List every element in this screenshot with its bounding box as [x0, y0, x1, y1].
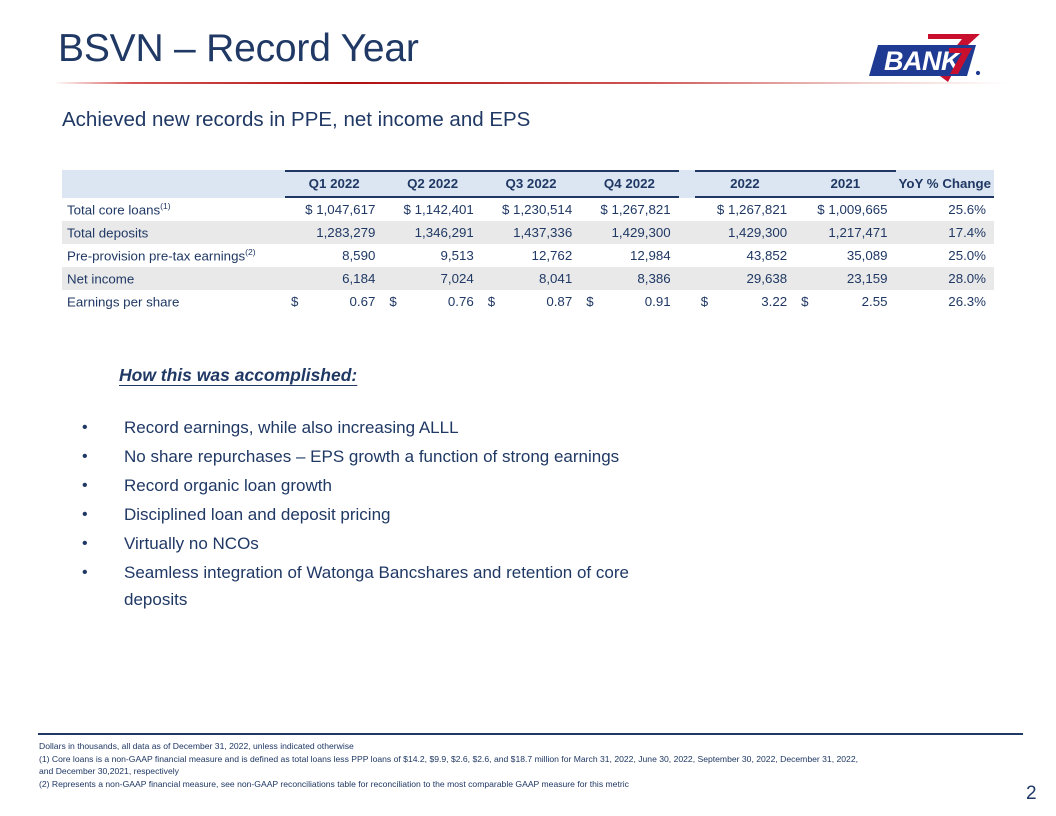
cell-yoy: 17.4%: [896, 221, 994, 244]
cell-spacer: [679, 244, 695, 267]
financial-table: Q1 2022 Q2 2022 Q3 2022 Q4 2022 2022 202…: [62, 170, 994, 313]
list-item: • No share repurchases – EPS growth a fu…: [78, 443, 778, 470]
cell-fy2022: $ 1,267,821: [695, 198, 795, 221]
cell-q4: $ 1,267,821: [580, 198, 678, 221]
footnotes-block: Dollars in thousands, all data as of Dec…: [39, 740, 999, 790]
footnote-marker: (1): [160, 201, 171, 211]
table-row: Total deposits 1,283,279 1,346,291 1,437…: [62, 221, 994, 244]
list-item-label: Virtually no NCOs: [124, 530, 259, 557]
bullet-dot-icon: •: [78, 472, 124, 499]
list-item-label: Seamless integration of Watonga Bancshar…: [124, 559, 684, 613]
eps-cell-inner: $ 0.87: [482, 294, 572, 309]
row-label-earnings-per-share: Earnings per share: [62, 290, 285, 313]
cell-q3: $ 0.87: [482, 290, 580, 313]
cell-q3: 12,762: [482, 244, 580, 267]
cell-yoy: 26.3%: [896, 290, 994, 313]
table-header-row: Q1 2022 Q2 2022 Q3 2022 Q4 2022 2022 202…: [62, 170, 994, 198]
table-row: Earnings per share $ 0.67 $ 0.76 $: [62, 290, 994, 313]
cell-q4: 8,386: [580, 267, 678, 290]
bullet-dot-icon: •: [78, 559, 124, 586]
cell-q2: 9,513: [383, 244, 481, 267]
page-title: BSVN – Record Year: [58, 27, 419, 71]
cell-q3: $ 1,230,514: [482, 198, 580, 221]
financial-table-container: Q1 2022 Q2 2022 Q3 2022 Q4 2022 2022 202…: [62, 170, 994, 313]
eps-value: 3.22: [761, 294, 787, 309]
list-item: • Record earnings, while also increasing…: [78, 414, 778, 441]
header-cell-q4: Q4 2022: [580, 170, 678, 198]
eps-cell-inner: $ 0.76: [383, 294, 473, 309]
cell-q1: 6,184: [285, 267, 383, 290]
cell-spacer: [679, 221, 695, 244]
eps-value: 0.67: [349, 294, 375, 309]
cell-yoy: 25.0%: [896, 244, 994, 267]
cell-fy2021: 1,217,471: [795, 221, 895, 244]
header-cell-q1: Q1 2022: [285, 170, 383, 198]
row-label-text: Total core loans: [67, 203, 160, 218]
cell-q1: $ 0.67: [285, 290, 383, 313]
cell-fy2021: 35,089: [795, 244, 895, 267]
cell-q1: $ 1,047,617: [285, 198, 383, 221]
cell-spacer: [679, 267, 695, 290]
row-label-text: Earnings per share: [67, 295, 179, 310]
cell-q2: $ 1,142,401: [383, 198, 481, 221]
bullet-dot-icon: •: [78, 414, 124, 441]
row-label-total-deposits: Total deposits: [62, 221, 285, 244]
header-cell-q3: Q3 2022: [482, 170, 580, 198]
slide-subtitle: Achieved new records in PPE, net income …: [62, 108, 530, 132]
financial-table-body: Total core loans(1) $ 1,047,617 $ 1,142,…: [62, 198, 994, 313]
header-cell-blank: [62, 170, 285, 198]
list-item-label: Disciplined loan and deposit pricing: [124, 501, 391, 528]
accomplishments-list: • Record earnings, while also increasing…: [78, 414, 778, 615]
how-accomplished-heading: How this was accomplished:: [119, 365, 357, 386]
footnote-line-1: Dollars in thousands, all data as of Dec…: [39, 740, 999, 753]
cell-q4: 12,984: [580, 244, 678, 267]
table-row: Net income 6,184 7,024 8,041 8,386 29,63…: [62, 267, 994, 290]
cell-spacer: [679, 290, 695, 313]
cell-q2: 7,024: [383, 267, 481, 290]
cell-fy2021: 23,159: [795, 267, 895, 290]
cell-fy2021: $ 2.55: [795, 290, 895, 313]
row-label-total-core-loans: Total core loans(1): [62, 198, 285, 221]
eps-value: 0.76: [448, 294, 474, 309]
cell-q1: 8,590: [285, 244, 383, 267]
footnote-line-2: (1) Core loans is a non-GAAP financial m…: [39, 753, 999, 766]
footer-divider-rule: [38, 733, 1023, 735]
table-row: Total core loans(1) $ 1,047,617 $ 1,142,…: [62, 198, 994, 221]
currency-symbol: $: [586, 294, 593, 309]
cell-fy2022: $ 3.22: [695, 290, 795, 313]
currency-symbol: $: [389, 294, 396, 309]
eps-cell-inner: $ 3.22: [695, 294, 787, 309]
page-number: 2: [1026, 783, 1037, 805]
currency-symbol: $: [701, 294, 708, 309]
header-cell-spacer: [679, 170, 695, 198]
cell-q4: 1,429,300: [580, 221, 678, 244]
cell-spacer: [679, 198, 695, 221]
row-label-text: Total deposits: [67, 226, 148, 241]
footnote-line-3: and December 30,2021, respectively: [39, 765, 999, 778]
list-item: • Record organic loan growth: [78, 472, 778, 499]
header-cell-q2: Q2 2022: [383, 170, 481, 198]
bank7-logo: BANK: [866, 32, 986, 84]
header-cell-fy2021: 2021: [795, 170, 895, 198]
row-label-text: Net income: [67, 272, 134, 287]
eps-value: 2.55: [862, 294, 888, 309]
list-item: • Seamless integration of Watonga Bancsh…: [78, 559, 778, 613]
list-item-label: Record organic loan growth: [124, 472, 332, 499]
bullet-dot-icon: •: [78, 443, 124, 470]
cell-q4: $ 0.91: [580, 290, 678, 313]
list-item: • Virtually no NCOs: [78, 530, 778, 557]
eps-cell-inner: $ 0.67: [285, 294, 375, 309]
cell-q3: 1,437,336: [482, 221, 580, 244]
currency-symbol: $: [801, 294, 808, 309]
bullet-dot-icon: •: [78, 501, 124, 528]
row-label-pre-provision-pre-tax-earnings: Pre-provision pre-tax earnings(2): [62, 244, 285, 267]
eps-value: 0.91: [645, 294, 671, 309]
list-item-label: Record earnings, while also increasing A…: [124, 414, 459, 441]
cell-q1: 1,283,279: [285, 221, 383, 244]
row-label-text: Pre-provision pre-tax earnings: [67, 249, 245, 264]
eps-value: 0.87: [546, 294, 572, 309]
cell-fy2022: 29,638: [695, 267, 795, 290]
footnote-line-4: (2) Represents a non-GAAP financial meas…: [39, 778, 999, 791]
cell-yoy: 25.6%: [896, 198, 994, 221]
cell-q3: 8,041: [482, 267, 580, 290]
list-item-label: No share repurchases – EPS growth a func…: [124, 443, 619, 470]
cell-q2: 1,346,291: [383, 221, 481, 244]
header-cell-fy2022: 2022: [695, 170, 795, 198]
cell-q2: $ 0.76: [383, 290, 481, 313]
cell-fy2022: 1,429,300: [695, 221, 795, 244]
eps-cell-inner: $ 0.91: [580, 294, 670, 309]
cell-fy2021: $ 1,009,665: [795, 198, 895, 221]
list-item: • Disciplined loan and deposit pricing: [78, 501, 778, 528]
eps-cell-inner: $ 2.55: [795, 294, 887, 309]
table-row: Pre-provision pre-tax earnings(2) 8,590 …: [62, 244, 994, 267]
footnote-marker: (2): [245, 247, 256, 257]
cell-yoy: 28.0%: [896, 267, 994, 290]
row-label-net-income: Net income: [62, 267, 285, 290]
currency-symbol: $: [488, 294, 495, 309]
header-cell-yoy: YoY % Change: [896, 170, 994, 198]
currency-symbol: $: [291, 294, 298, 309]
bank7-logo-svg: BANK: [866, 32, 986, 84]
cell-fy2022: 43,852: [695, 244, 795, 267]
bullet-dot-icon: •: [78, 530, 124, 557]
